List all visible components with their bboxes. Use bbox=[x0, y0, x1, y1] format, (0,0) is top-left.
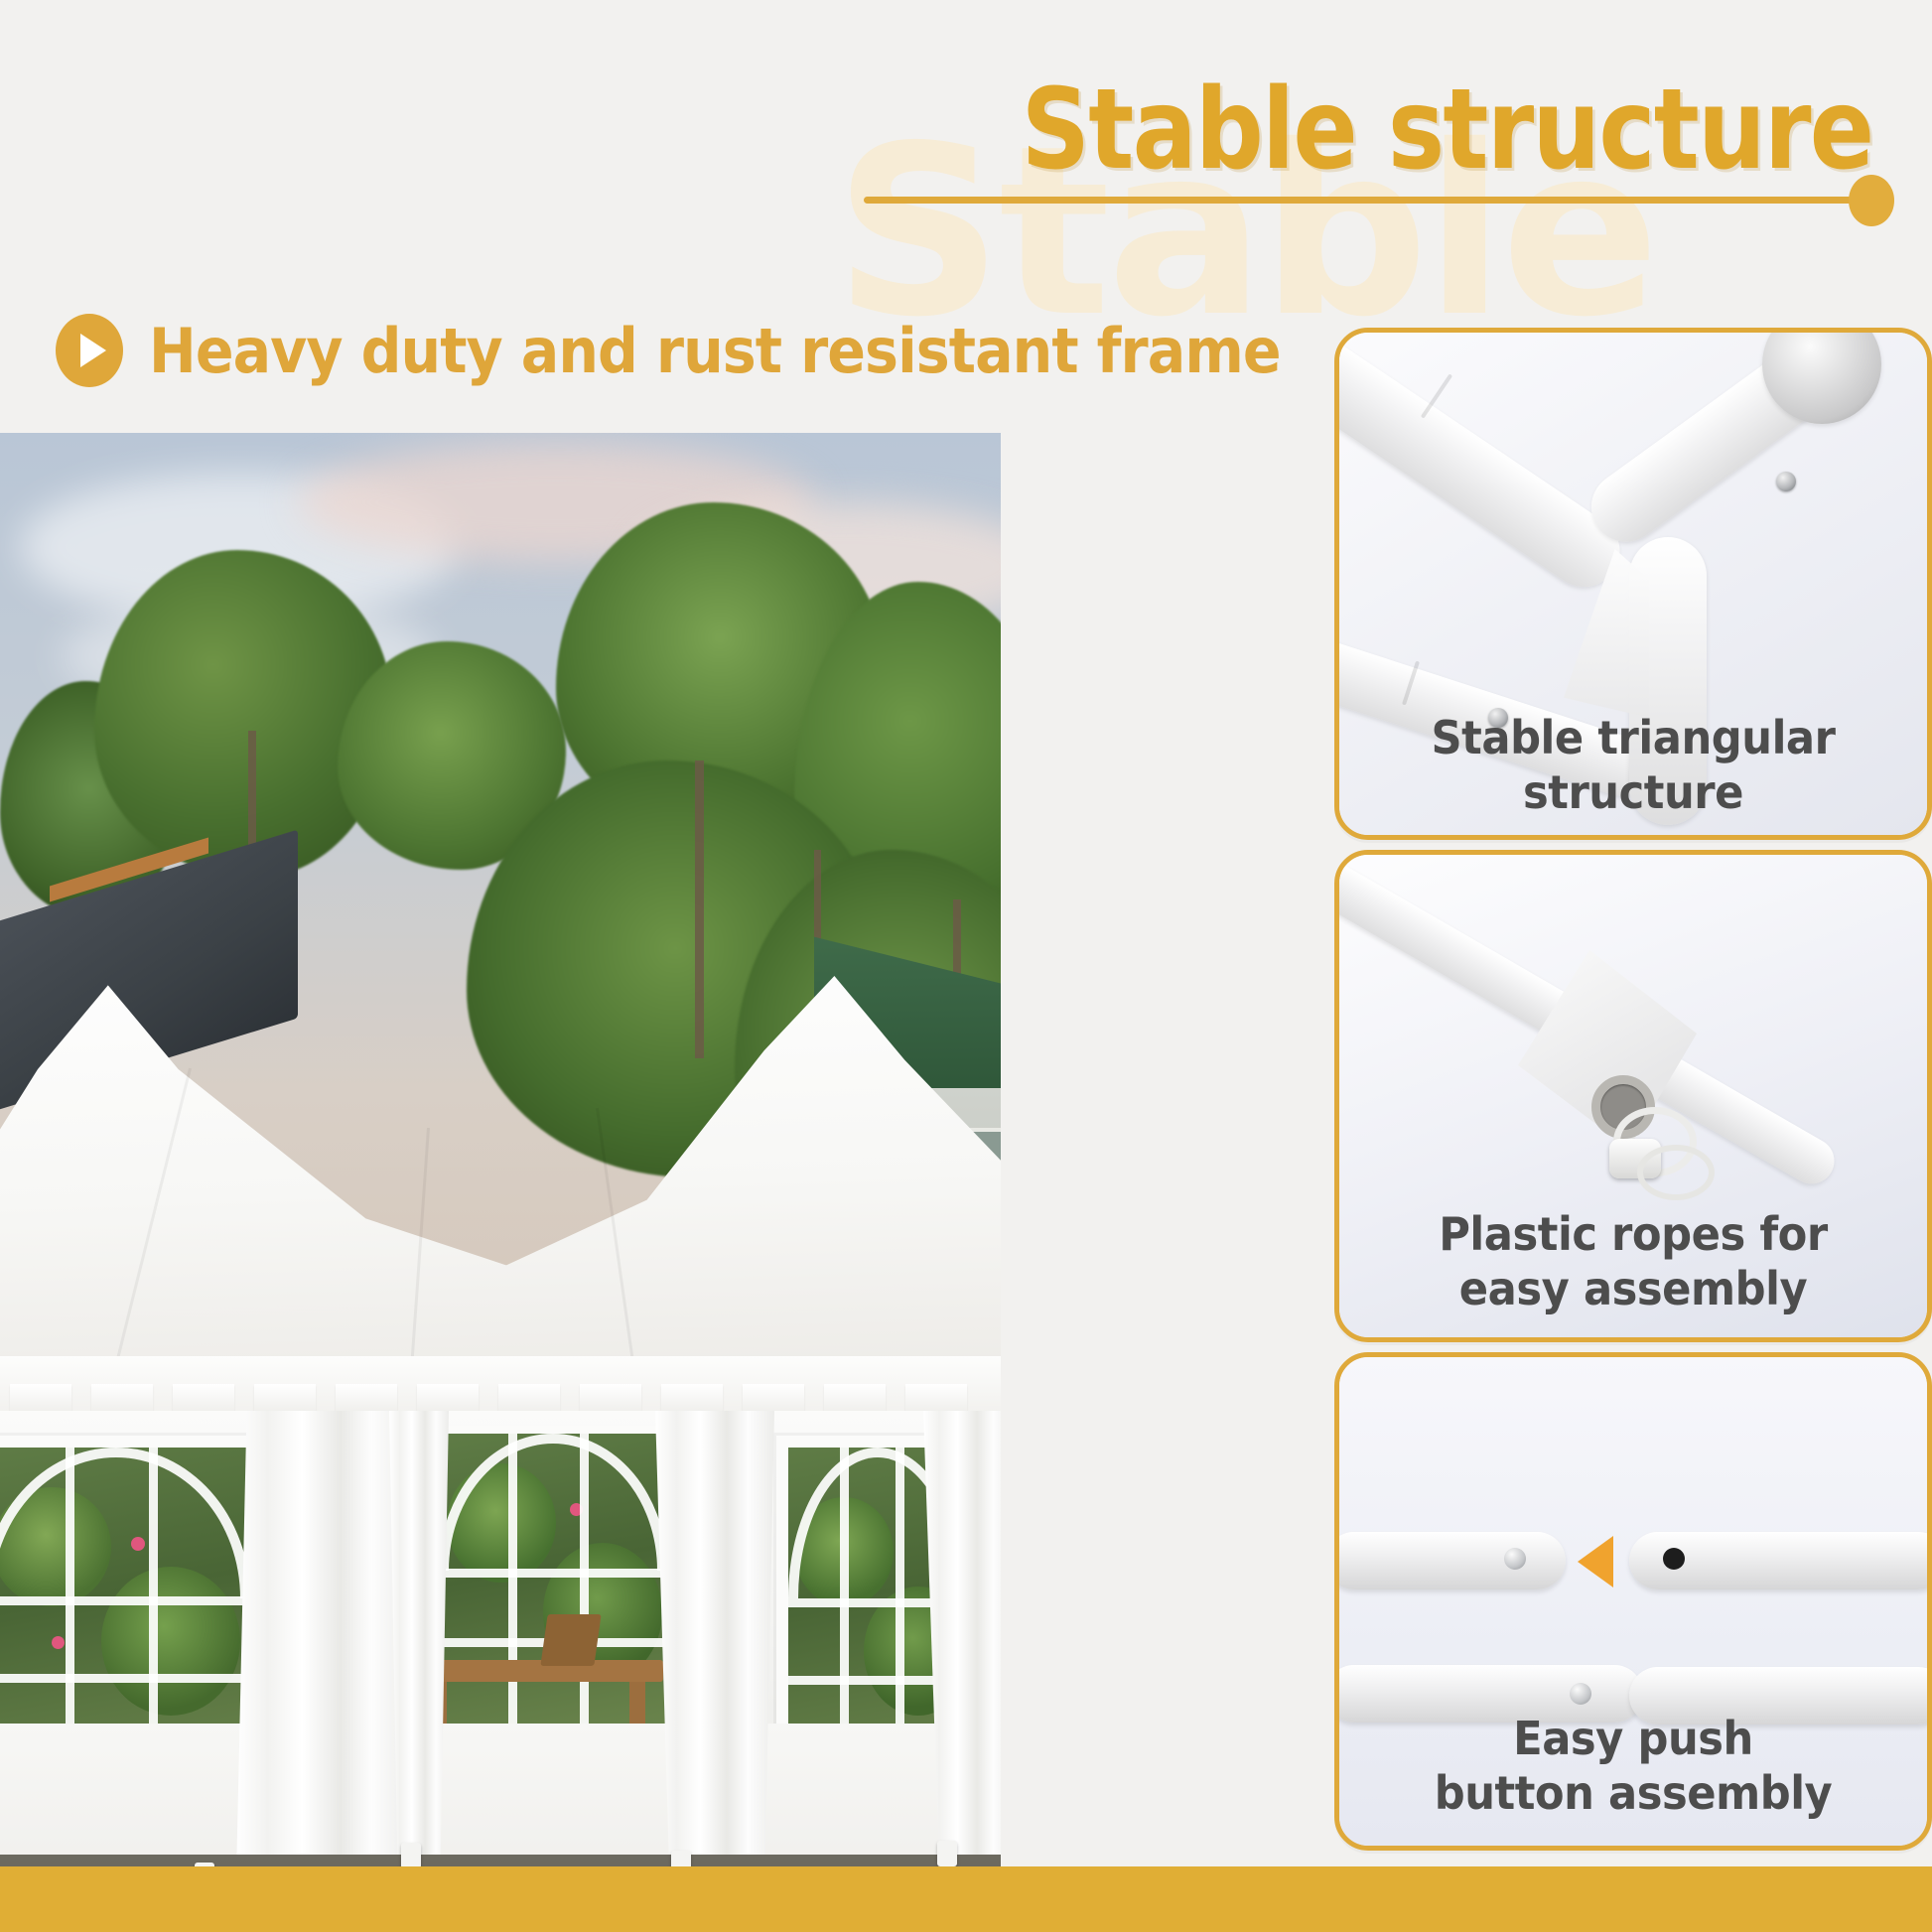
feature-card-plastic-ropes[interactable]: Plastic ropes for easy assembly bbox=[1334, 850, 1932, 1342]
title-underline bbox=[864, 197, 1866, 204]
play-circle-icon bbox=[56, 314, 123, 387]
caption-line-2: button assembly bbox=[1357, 1766, 1909, 1820]
window-mullion bbox=[439, 1569, 667, 1578]
patio-ground bbox=[0, 1855, 1001, 1866]
bottom-accent-bar bbox=[0, 1866, 1932, 1932]
hero-photo bbox=[0, 433, 1001, 1866]
caption-line-1: Plastic ropes for bbox=[1357, 1207, 1909, 1261]
page-title: Stable structure bbox=[1021, 66, 1872, 195]
caption-line-1: Stable triangular bbox=[1357, 711, 1909, 764]
caption-line-1: Easy push bbox=[1357, 1712, 1909, 1765]
push-button-icon bbox=[1504, 1548, 1526, 1570]
button-hole-icon bbox=[1663, 1548, 1685, 1570]
window-mullion bbox=[0, 1596, 250, 1605]
tent-lower-wall bbox=[0, 1724, 1001, 1866]
arrow-left-icon bbox=[1578, 1536, 1613, 1587]
tent-pole-base bbox=[671, 1851, 691, 1866]
card-caption: Easy push button assembly bbox=[1357, 1712, 1909, 1820]
window-mullion bbox=[508, 1434, 517, 1731]
screw-icon bbox=[1776, 472, 1796, 491]
window-mullion bbox=[580, 1434, 589, 1731]
window-mullion bbox=[0, 1674, 250, 1683]
tent-curtain-inner-left bbox=[389, 1411, 449, 1863]
caption-line-2: easy assembly bbox=[1357, 1262, 1909, 1315]
feature-card-push-button[interactable]: Easy push button assembly bbox=[1334, 1352, 1932, 1851]
pole-left-top bbox=[1334, 1532, 1566, 1589]
card-caption: Stable triangular structure bbox=[1357, 711, 1909, 819]
card-caption: Plastic ropes for easy assembly bbox=[1357, 1207, 1909, 1315]
interior-table bbox=[415, 1660, 663, 1682]
window-flower bbox=[52, 1636, 65, 1649]
window-arch-mullion bbox=[439, 1434, 667, 1571]
feature-card-triangular-structure[interactable]: Stable triangular structure bbox=[1334, 328, 1932, 840]
knife-block bbox=[540, 1614, 601, 1666]
tree-trunk bbox=[695, 760, 704, 1058]
push-button-icon bbox=[1570, 1683, 1591, 1705]
plastic-rope bbox=[1637, 1145, 1715, 1200]
tent-curtain-left bbox=[236, 1411, 410, 1866]
tent-curtain-right bbox=[655, 1411, 774, 1866]
infographic-root: Stable Stable structure Heavy duty and r… bbox=[0, 0, 1932, 1932]
window-arch-mullion bbox=[0, 1448, 250, 1598]
tent-pole-base bbox=[401, 1843, 421, 1866]
title-end-dot bbox=[1849, 175, 1894, 226]
tent-pole-base bbox=[937, 1841, 957, 1866]
subtitle-row: Heavy duty and rust resistant frame bbox=[56, 314, 1379, 387]
caption-line-2: structure bbox=[1357, 765, 1909, 819]
subtitle-label: Heavy duty and rust resistant frame bbox=[149, 315, 1281, 387]
